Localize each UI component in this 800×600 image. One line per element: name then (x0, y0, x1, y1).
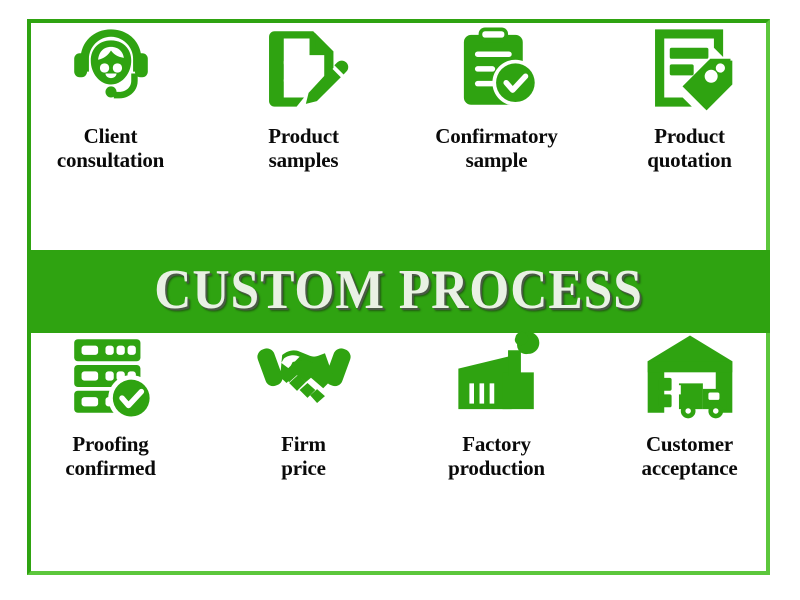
banner-title: CUSTOM PROCESS (154, 262, 643, 321)
step-label: Proofing confirmed (65, 433, 155, 480)
step-label: Product quotation (647, 125, 732, 172)
step-proofing-confirmed: Proofing confirmed (14, 330, 207, 480)
step-product-samples: Product samples (207, 22, 400, 172)
step-factory-production: Factory production (400, 330, 593, 480)
warehouse-truck-icon (642, 330, 738, 422)
document-price-tag-icon (644, 22, 736, 114)
step-client-consultation: Client consultation (14, 22, 207, 172)
custom-process-banner: CUSTOM PROCESS (27, 250, 770, 333)
step-customer-acceptance: Customer acceptance (593, 330, 786, 480)
step-firm-price: Firm price (207, 330, 400, 480)
server-rack-check-icon (65, 330, 157, 422)
handshake-icon (256, 330, 352, 422)
factory-icon (451, 330, 543, 422)
document-pencil-icon (258, 22, 350, 114)
step-label: Factory production (448, 433, 545, 480)
step-label: Confirmatory sample (435, 125, 557, 172)
step-label: Client consultation (57, 125, 164, 172)
step-label: Customer acceptance (642, 433, 738, 480)
process-row-top: Client consultation Produ (0, 22, 800, 212)
step-label: Firm price (281, 433, 326, 480)
custom-process-infographic: Client consultation Produ (0, 0, 800, 600)
clipboard-check-icon (451, 22, 543, 114)
step-product-quotation: Product quotation (593, 22, 786, 172)
process-row-bottom: Proofing confirmed (0, 330, 800, 520)
step-confirmatory-sample: Confirmatory sample (400, 22, 593, 172)
headset-support-agent-icon (65, 22, 157, 114)
step-label: Product samples (268, 125, 339, 172)
